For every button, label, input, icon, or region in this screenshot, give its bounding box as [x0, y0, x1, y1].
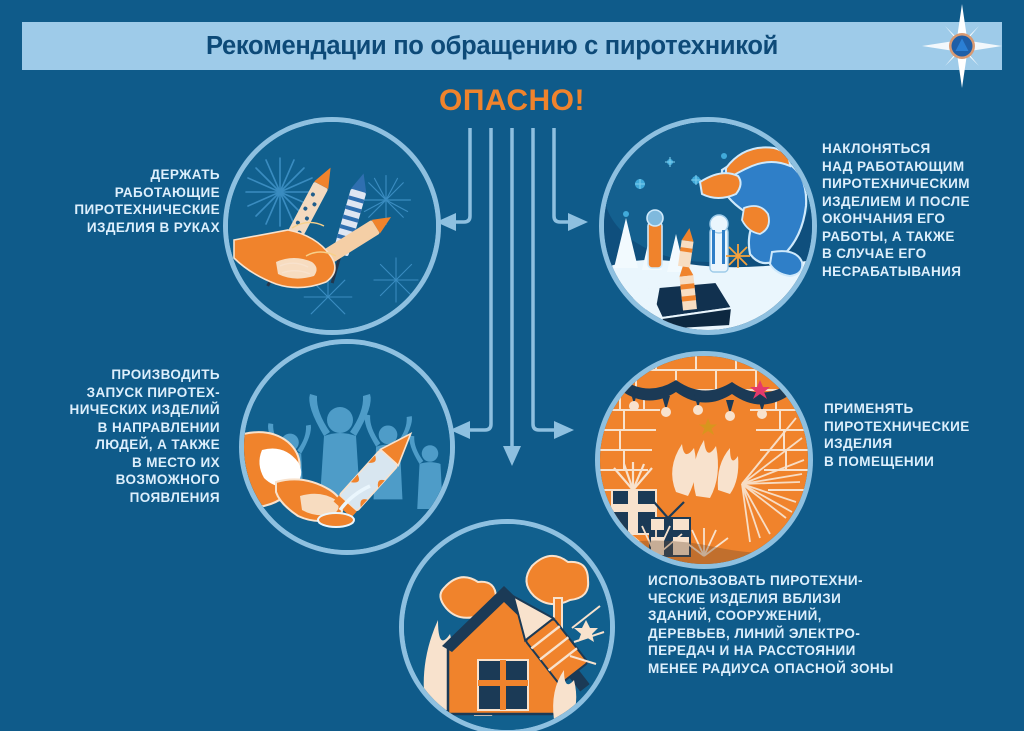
illustration-use-indoors — [600, 356, 808, 564]
danger-label: ОПАСНО! — [0, 84, 1024, 118]
caption-use-indoors: ПРИМЕНЯТЬ ПИРОТЕХНИЧЕСКИЕ ИЗДЕЛИЯ В ПОМЕ… — [824, 400, 1019, 470]
poster-canvas: Рекомендации по обращению с пиротехникой — [0, 0, 1024, 731]
caption-lean-over-device: НАКЛОНЯТЬСЯ НАД РАБОТАЮЩИМ ПИРОТЕХНИЧЕСК… — [822, 140, 1022, 280]
illustration-launch-toward-people — [244, 344, 450, 550]
illustration-use-near-buildings — [404, 524, 610, 730]
header-bar: Рекомендации по обращению с пиротехникой — [22, 22, 1002, 70]
emercom-star-emblem — [918, 2, 1006, 90]
page-title: Рекомендации по обращению с пиротехникой — [206, 32, 818, 61]
caption-use-near-buildings: ИСПОЛЬЗОВАТЬ ПИРОТЕХНИ- ЧЕСКИЕ ИЗДЕЛИЯ В… — [648, 572, 968, 677]
caption-launch-toward-people: ПРОИЗВОДИТЬ ЗАПУСК ПИРОТЕХ- НИЧЕСКИХ ИЗД… — [20, 366, 220, 506]
illustration-lean-over-device — [604, 122, 812, 330]
caption-hold-in-hands: ДЕРЖАТЬ РАБОТАЮЩИЕ ПИРОТЕХНИЧЕСКИЕ ИЗДЕЛ… — [30, 166, 220, 236]
illustration-hold-in-hands — [228, 122, 436, 330]
